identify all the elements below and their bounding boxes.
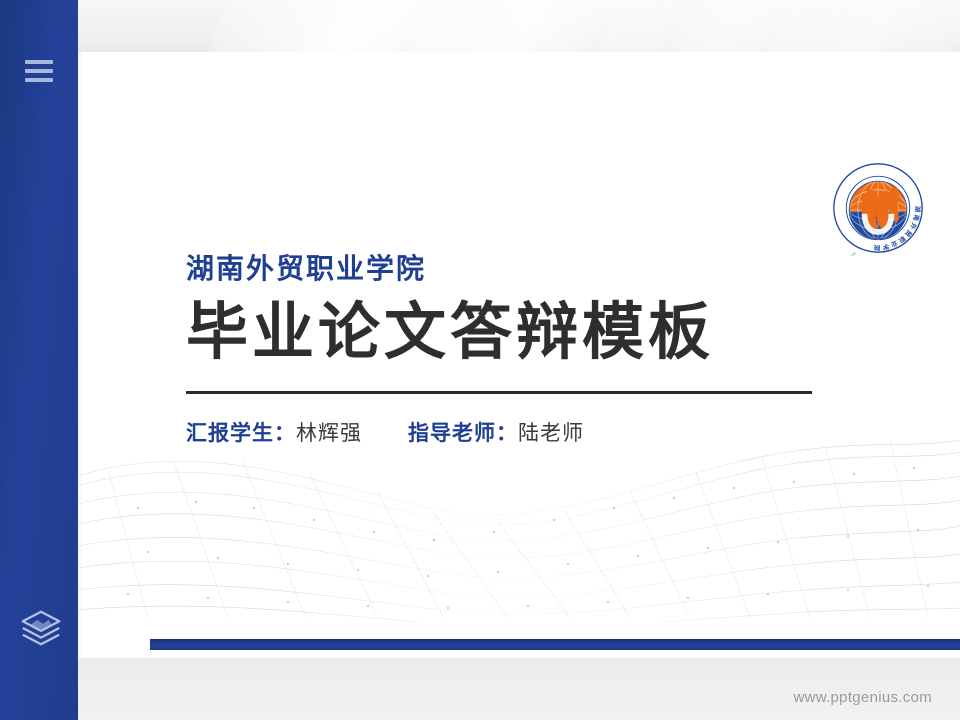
- college-emblem: 湖南外贸职业学院 HUNAN FOREIGN TRADE VOCATIONAL …: [830, 160, 926, 256]
- advisor-name: 陆老师: [518, 420, 584, 447]
- hamburger-icon[interactable]: [25, 60, 53, 82]
- backdrop-top-strip: [0, 0, 960, 52]
- presenter-name: 林辉强: [296, 420, 362, 447]
- hamburger-bar: [25, 78, 53, 82]
- slide-viewer: 湖南外贸职业学院 HUNAN FOREIGN TRADE VOCATIONAL …: [0, 0, 960, 720]
- layers-stack-icon[interactable]: [18, 605, 64, 651]
- byline: 汇报学生： 林辉强 指导老师： 陆老师: [186, 420, 886, 447]
- title-divider: [186, 391, 812, 394]
- presenter-label: 汇报学生：: [186, 420, 296, 447]
- page-title: 毕业论文答辩模板: [186, 300, 886, 367]
- hamburger-bar: [25, 60, 53, 64]
- slide-bottom-accent-bar: [150, 639, 960, 650]
- school-name: 湖南外贸职业学院: [186, 252, 886, 286]
- slide-left-edge: [78, 52, 82, 658]
- site-watermark: www.pptgenius.com: [794, 689, 933, 706]
- hamburger-bar: [25, 69, 53, 73]
- left-navigation-rail: [0, 0, 78, 720]
- title-block: 湖南外贸职业学院 毕业论文答辩模板 汇报学生： 林辉强 指导老师： 陆老师: [186, 252, 886, 447]
- slide-canvas: 湖南外贸职业学院 HUNAN FOREIGN TRADE VOCATIONAL …: [78, 52, 960, 658]
- advisor-label: 指导老师：: [408, 420, 518, 447]
